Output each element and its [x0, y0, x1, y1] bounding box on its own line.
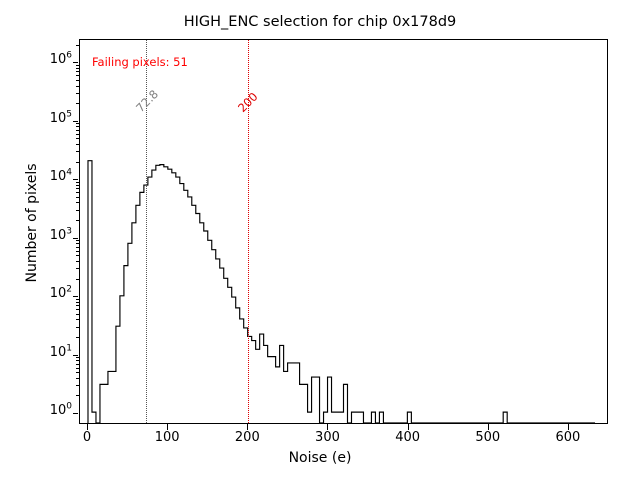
- y-minor-tick: [76, 279, 79, 280]
- y-axis-title: Number of pixels: [24, 103, 40, 343]
- y-minor-tick: [76, 314, 79, 315]
- y-minor-tick: [76, 319, 79, 320]
- y-minor-tick: [76, 251, 79, 252]
- x-axis-title: Noise (e): [0, 450, 640, 466]
- y-minor-tick: [76, 68, 79, 69]
- y-minor-tick: [76, 368, 79, 369]
- y-minor-tick: [76, 302, 79, 303]
- y-minor-tick: [76, 86, 79, 87]
- x-major-tick: [408, 424, 409, 430]
- y-minor-tick: [76, 197, 79, 198]
- y-minor-tick: [76, 185, 79, 186]
- y-minor-tick: [76, 192, 79, 193]
- y-minor-tick: [76, 247, 79, 248]
- x-major-tick: [568, 424, 569, 430]
- x-tick-label: 200: [235, 430, 260, 445]
- y-minor-tick: [76, 337, 79, 338]
- y-minor-tick: [76, 151, 79, 152]
- y-tick-label: 105: [50, 112, 72, 125]
- chart-title: HIGH_ENC selection for chip 0x178d9: [0, 14, 640, 30]
- failing-pixels-annotation: Failing pixels: 51: [92, 55, 188, 69]
- y-minor-tick: [76, 80, 79, 81]
- y-minor-tick: [76, 385, 79, 386]
- y-minor-tick: [76, 188, 79, 189]
- y-minor-tick: [76, 299, 79, 300]
- y-major-tick: [73, 121, 79, 122]
- y-tick-label: 101: [50, 346, 72, 359]
- y-minor-tick: [76, 220, 79, 221]
- y-minor-tick: [76, 103, 79, 104]
- y-minor-tick: [76, 134, 79, 135]
- y-minor-tick: [76, 327, 79, 328]
- y-tick-label: 103: [50, 229, 72, 242]
- y-tick-label: 102: [50, 287, 72, 300]
- y-minor-tick: [76, 305, 79, 306]
- y-minor-tick: [76, 395, 79, 396]
- y-minor-tick: [76, 45, 79, 46]
- figure-canvas: HIGH_ENC selection for chip 0x178d9 1001…: [0, 0, 640, 480]
- x-tick-label: 0: [83, 430, 91, 445]
- y-minor-tick: [76, 123, 79, 124]
- x-tick-label: 400: [395, 430, 420, 445]
- y-minor-tick: [76, 144, 79, 145]
- y-minor-tick: [76, 309, 79, 310]
- x-tick-label: 100: [155, 430, 180, 445]
- x-tick-label: 600: [556, 430, 581, 445]
- y-minor-tick: [76, 240, 79, 241]
- x-major-tick: [247, 424, 248, 430]
- y-major-tick: [73, 179, 79, 180]
- y-minor-tick: [76, 71, 79, 72]
- y-minor-tick: [76, 202, 79, 203]
- x-major-tick: [87, 424, 88, 430]
- y-minor-tick: [76, 360, 79, 361]
- x-tick-label: 300: [315, 430, 340, 445]
- y-tick-label: 106: [50, 53, 72, 66]
- x-major-tick: [167, 424, 168, 430]
- y-major-tick: [73, 413, 79, 414]
- y-minor-tick: [76, 378, 79, 379]
- y-minor-tick: [76, 138, 79, 139]
- y-minor-tick: [76, 126, 79, 127]
- y-minor-tick: [76, 261, 79, 262]
- x-major-tick: [327, 424, 328, 430]
- x-major-tick: [488, 424, 489, 430]
- y-minor-tick: [76, 364, 79, 365]
- y-major-tick: [73, 355, 79, 356]
- y-minor-tick: [76, 182, 79, 183]
- x-tick-label: 500: [475, 430, 500, 445]
- y-minor-tick: [76, 65, 79, 66]
- y-minor-tick: [76, 243, 79, 244]
- y-minor-tick: [76, 210, 79, 211]
- y-minor-tick: [76, 372, 79, 373]
- y-major-tick: [73, 62, 79, 63]
- y-minor-tick: [76, 130, 79, 131]
- y-minor-tick: [76, 162, 79, 163]
- y-minor-tick: [76, 75, 79, 76]
- y-tick-label: 100: [50, 404, 72, 417]
- y-minor-tick: [76, 268, 79, 269]
- y-major-tick: [73, 238, 79, 239]
- y-tick-label: 104: [50, 170, 72, 183]
- y-minor-tick: [76, 93, 79, 94]
- y-minor-tick: [76, 255, 79, 256]
- y-minor-tick: [76, 357, 79, 358]
- y-major-tick: [73, 296, 79, 297]
